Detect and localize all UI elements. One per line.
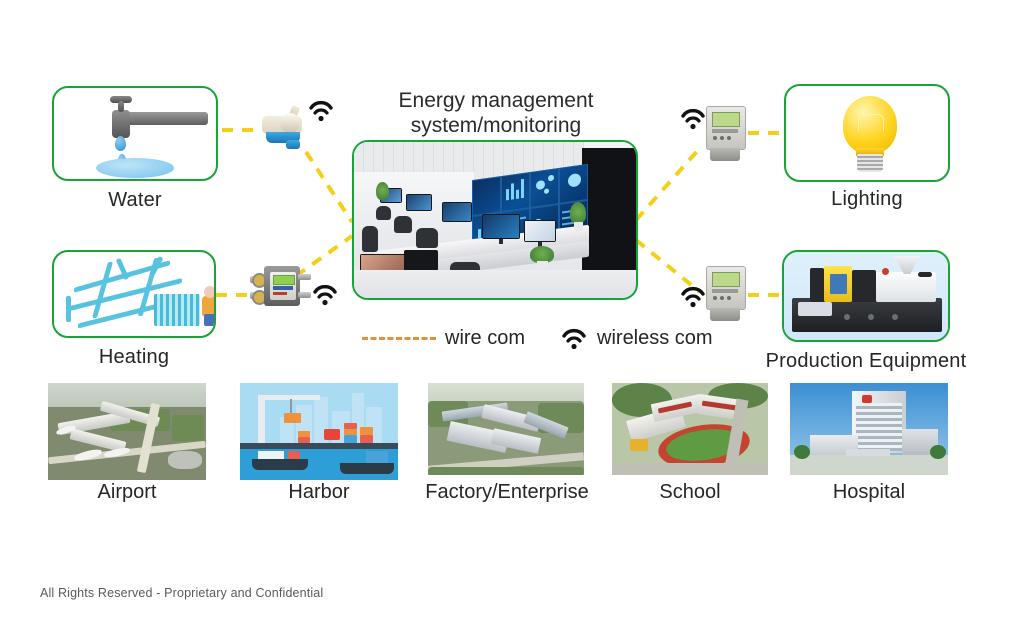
control-room-panel[interactable] [352, 140, 638, 300]
hospital-image[interactable] [790, 383, 948, 475]
water-panel[interactable] [52, 86, 218, 181]
electric-meter-device[interactable] [704, 106, 748, 162]
water-faucet-icon [54, 88, 216, 179]
wifi-icon [312, 284, 338, 306]
production-equipment-panel[interactable] [782, 250, 950, 342]
heating-panel[interactable] [52, 250, 216, 338]
wifi-icon [308, 100, 334, 122]
water-meter-device[interactable] [258, 104, 308, 150]
lighting-panel[interactable] [784, 84, 950, 182]
wifi-icon [680, 108, 706, 130]
wifi-icon [561, 328, 588, 350]
legend: wire com wireless com [362, 327, 713, 350]
water-label: Water [52, 189, 218, 212]
airport-image[interactable] [48, 383, 206, 480]
legend-wireless-label: wireless com [597, 327, 713, 350]
diagram-canvas: Energy management system/monitoring [0, 0, 1024, 625]
light-bulb-icon [786, 86, 948, 180]
page-title: Energy management system/monitoring [356, 88, 636, 138]
production-equipment-label: Production Equipment [760, 350, 972, 373]
harbor-image[interactable] [240, 383, 398, 480]
radiator-icon [154, 294, 200, 326]
footer-text: All Rights Reserved - Proprietary and Co… [40, 586, 323, 600]
legend-wire-label: wire com [445, 327, 525, 350]
control-room-image [354, 142, 636, 298]
dashed-line-icon [362, 337, 436, 340]
hospital-label: Hospital [782, 481, 956, 504]
heat-meter-device[interactable] [250, 262, 312, 310]
injection-molding-machine-icon [784, 252, 948, 340]
factory-label: Factory/Enterprise [410, 481, 604, 504]
school-image[interactable] [612, 383, 768, 475]
lighting-label: Lighting [784, 188, 950, 211]
airport-label: Airport [40, 481, 214, 504]
factory-image[interactable] [428, 383, 584, 475]
school-label: School [600, 481, 780, 504]
worker-icon [202, 296, 216, 316]
electric-meter-device[interactable] [704, 266, 748, 322]
heating-label: Heating [52, 346, 216, 369]
wifi-icon [680, 286, 706, 308]
heating-pipes-icon [54, 252, 214, 336]
harbor-label: Harbor [232, 481, 406, 504]
